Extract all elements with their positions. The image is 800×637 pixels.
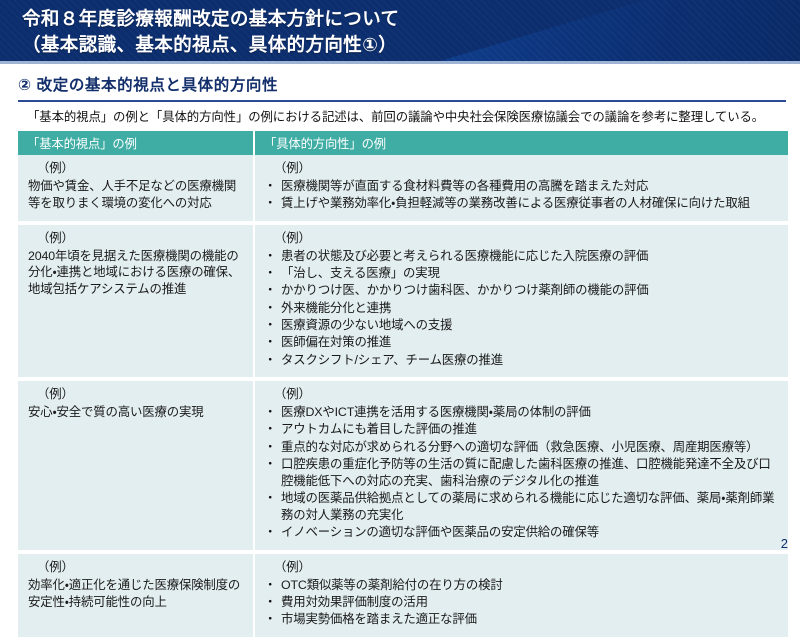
cell-concrete-direction: （例） OTC類似薬等の薬剤給付の在り方の検討 費用対効果評価制度の活用 市場実… — [255, 554, 788, 637]
table-row: （例） 2040年頃を見据えた医療機関の機能の分化・連携と地域における医療の確保… — [18, 225, 788, 381]
list-item: かかりつけ医、かかりつけ歯科医、かかりつけ薬剤師の機能の評価 — [264, 282, 780, 299]
rei-label: （例） — [264, 160, 780, 177]
list-item: 外来機能分化と連携 — [264, 300, 780, 317]
cell-basic-viewpoint: （例） 2040年頃を見据えた医療機関の機能の分化・連携と地域における医療の確保… — [18, 225, 255, 381]
list-item: タスクシフト/シェア、チーム医療の推進 — [264, 352, 780, 369]
viewpoints-table: 「基本的視点」の例 「具体的方向性」の例 （例） 物価や賃金、人手不足などの医療… — [18, 131, 788, 637]
direction-bullet-list: 患者の状態及び必要と考えられる医療機能に応じた入院医療の評価 「治し、支える医療… — [264, 248, 780, 369]
list-item: 口腔疾患の重症化予防等の生活の質に配慮した歯科医療の推進、口腔機能発達不全及び口… — [264, 456, 780, 490]
rei-label: （例） — [27, 230, 245, 247]
list-item: 賃上げや業務効率化・負担軽減等の業務改善による医療従事者の人材確保に向けた取組 — [264, 195, 780, 212]
cell-basic-viewpoint: （例） 安心・安全で質の高い医療の実現 — [18, 381, 255, 554]
viewpoint-text: 物価や賃金、人手不足などの医療機関等を取りまく環境の変化への対応 — [27, 178, 245, 212]
rei-label: （例） — [264, 230, 780, 247]
list-item: 患者の状態及び必要と考えられる医療機能に応じた入院医療の評価 — [264, 248, 780, 265]
list-item: アウトカムにも着目した評価の推進 — [264, 421, 780, 438]
cell-concrete-direction: （例） 患者の状態及び必要と考えられる医療機能に応じた入院医療の評価 「治し、支… — [255, 225, 788, 381]
section-block: ② 改定の基本的視点と具体的方向性 「基本的視点」の例と「具体的方向性」の例にお… — [0, 64, 800, 131]
list-item: 医療資源の少ない地域への支援 — [264, 317, 780, 334]
viewpoint-text: 安心・安全で質の高い医療の実現 — [27, 404, 245, 421]
rei-label: （例） — [27, 559, 245, 576]
list-item: OTC類似薬等の薬剤給付の在り方の検討 — [264, 577, 780, 594]
slide-title: 令和８年度診療報酬改定の基本方針について （基本認識、基本的視点、具体的方向性①… — [0, 0, 800, 59]
list-item: 費用対効果評価制度の活用 — [264, 594, 780, 611]
list-item: 「治し、支える医療」の実現 — [264, 265, 780, 282]
page-number: 2 — [781, 536, 788, 551]
viewpoint-text: 2040年頃を見据えた医療機関の機能の分化・連携と地域における医療の確保、地域包… — [27, 248, 245, 299]
list-item: 医師偏在対策の推進 — [264, 334, 780, 351]
viewpoint-text: 効率化・適正化を通じた医療保険制度の安定性・持続可能性の向上 — [27, 577, 245, 611]
rei-label: （例） — [264, 559, 780, 576]
lead-note: 「基本的視点」の例と「具体的方向性」の例における記述は、前回の議論や中央社会保険… — [18, 102, 786, 131]
direction-bullet-list: 医療機関等が直面する食材料費等の各種費用の高騰を踏まえた対応 賃上げや業務効率化… — [264, 178, 780, 212]
column-header-concrete-direction: 「具体的方向性」の例 — [255, 131, 788, 155]
slide: 令和８年度診療報酬改定の基本方針について （基本認識、基本的視点、具体的方向性①… — [0, 0, 800, 556]
direction-bullet-list: OTC類似薬等の薬剤給付の在り方の検討 費用対効果評価制度の活用 市場実勢価格を… — [264, 577, 780, 629]
table-row: （例） 安心・安全で質の高い医療の実現 （例） 医療DXやICT連携を活用する医… — [18, 381, 788, 554]
list-item: 医療DXやICT連携を活用する医療機関・薬局の体制の評価 — [264, 404, 780, 421]
column-header-basic-viewpoint: 「基本的視点」の例 — [18, 131, 255, 155]
cell-concrete-direction: （例） 医療機関等が直面する食材料費等の各種費用の高騰を踏まえた対応 賃上げや業… — [255, 155, 788, 225]
table-header-row: 「基本的視点」の例 「具体的方向性」の例 — [18, 131, 788, 155]
rei-label: （例） — [264, 386, 780, 403]
cell-concrete-direction: （例） 医療DXやICT連携を活用する医療機関・薬局の体制の評価 アウトカムにも… — [255, 381, 788, 554]
section-heading: ② 改定の基本的視点と具体的方向性 — [18, 73, 786, 98]
list-item: イノベーションの適切な評価や医薬品の安定供給の確保等 — [264, 524, 780, 541]
list-item: 地域の医薬品供給拠点としての薬局に求められる機能に応じた適切な評価、薬局・薬剤師… — [264, 490, 780, 524]
rei-label: （例） — [27, 160, 245, 177]
table-body: （例） 物価や賃金、人手不足などの医療機関等を取りまく環境の変化への対応 （例）… — [18, 155, 788, 637]
cell-basic-viewpoint: （例） 物価や賃金、人手不足などの医療機関等を取りまく環境の変化への対応 — [18, 155, 255, 225]
list-item: 市場実勢価格を踏まえた適正な評価 — [264, 611, 780, 628]
banner-underline — [0, 61, 800, 64]
table-row: （例） 物価や賃金、人手不足などの医療機関等を取りまく環境の変化への対応 （例）… — [18, 155, 788, 225]
list-item: 医療機関等が直面する食材料費等の各種費用の高騰を踏まえた対応 — [264, 178, 780, 195]
table-row: （例） 効率化・適正化を通じた医療保険制度の安定性・持続可能性の向上 （例） O… — [18, 554, 788, 637]
cell-basic-viewpoint: （例） 効率化・適正化を通じた医療保険制度の安定性・持続可能性の向上 — [18, 554, 255, 637]
title-banner: 令和８年度診療報酬改定の基本方針について （基本認識、基本的視点、具体的方向性①… — [0, 0, 800, 64]
table-header: 「基本的視点」の例 「具体的方向性」の例 — [18, 131, 788, 155]
direction-bullet-list: 医療DXやICT連携を活用する医療機関・薬局の体制の評価 アウトカムにも着目した… — [264, 404, 780, 541]
rei-label: （例） — [27, 386, 245, 403]
list-item: 重点的な対応が求められる分野への適切な評価（救急医療、小児医療、周産期医療等） — [264, 439, 780, 456]
